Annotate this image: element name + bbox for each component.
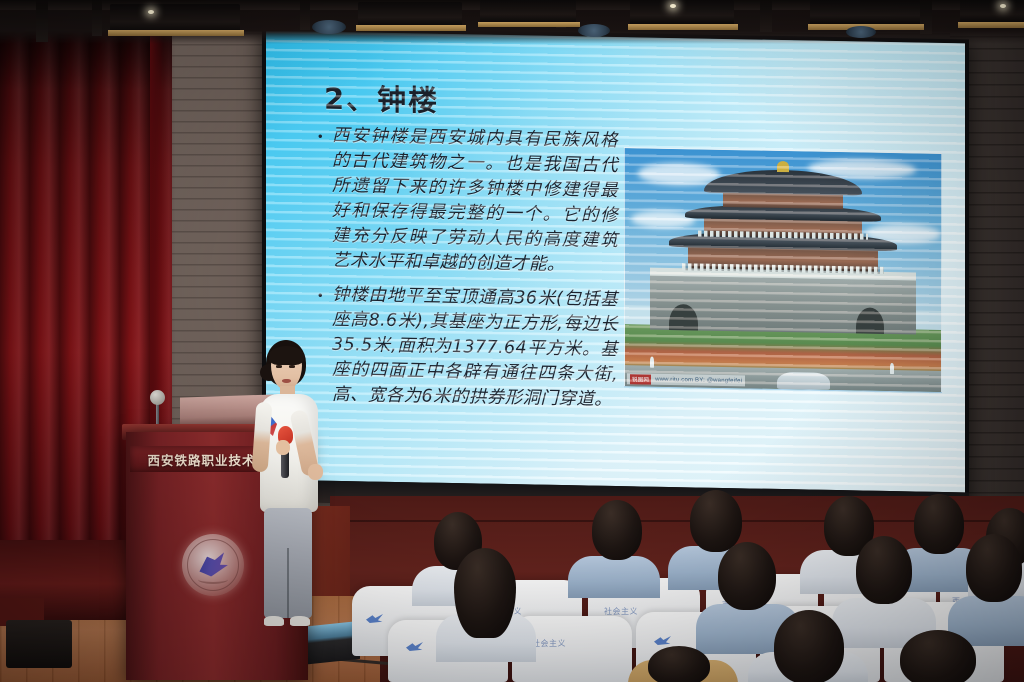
stage-left-equipment-case bbox=[6, 620, 72, 668]
slide-body: • 西安钟楼是西安城内具有民族风格的古代建筑物之一。也是我国古代所遗留下来的许多… bbox=[318, 124, 618, 422]
watermark-badge: 锐图网 bbox=[630, 374, 651, 384]
chair-cover-logo-icon bbox=[654, 636, 671, 645]
lamp-glow-icon bbox=[148, 10, 154, 14]
lecture-hall-scene: 2、钟楼 • 西安钟楼是西安城内具有民族风格的古代建筑物之一。也是我国古代所遗留… bbox=[0, 0, 1024, 682]
presenter-eye bbox=[289, 365, 295, 368]
audience-member-head bbox=[966, 534, 1022, 602]
stage-light-fixture bbox=[960, 0, 1024, 24]
presenter-eye bbox=[276, 365, 282, 368]
audience-member-head bbox=[856, 536, 912, 604]
tower-finial bbox=[777, 160, 790, 172]
truss-dropper bbox=[92, 0, 102, 36]
truss-dropper bbox=[760, 0, 772, 32]
audience-member-head bbox=[900, 630, 976, 682]
chair-cover-logo-icon bbox=[366, 614, 383, 623]
fixture-lip bbox=[478, 22, 580, 27]
gooseneck-microphone-icon bbox=[150, 390, 165, 405]
stage-light-fixture bbox=[810, 0, 920, 26]
college-crest-icon bbox=[182, 534, 244, 596]
presenter-hair-front bbox=[269, 346, 304, 365]
audience-member-head bbox=[774, 610, 844, 682]
photo-car bbox=[777, 372, 831, 390]
audience-member-head bbox=[914, 494, 964, 554]
slide-bullet-text: 西安钟楼是西安城内具有民族风格的古代建筑物之一。也是我国古代所遗留下来的许多钟楼… bbox=[332, 124, 618, 279]
presenter-mouth bbox=[282, 379, 291, 383]
presenter-shoe bbox=[290, 616, 310, 626]
presenter-hand-right bbox=[308, 464, 323, 480]
audience-member-head bbox=[718, 542, 776, 610]
slide-bullet: • 西安钟楼是西安城内具有民族风格的古代建筑物之一。也是我国古代所遗留下来的许多… bbox=[318, 124, 618, 279]
presenter-hand-holding-mic bbox=[276, 440, 290, 455]
audience-member-head bbox=[592, 500, 642, 560]
chair-cover-logo-icon bbox=[406, 642, 423, 651]
chair-cover-text: 社会主义 bbox=[532, 638, 566, 649]
presenter-trouser-seam bbox=[287, 548, 289, 618]
truss-dropper bbox=[36, 0, 48, 42]
lamp-glow-icon bbox=[1000, 4, 1006, 8]
photo-pedestrian bbox=[650, 357, 654, 368]
audience-member-shoulders bbox=[568, 556, 660, 598]
presenter-shoe bbox=[264, 616, 284, 626]
projection-screen-frame: 2、钟楼 • 西安钟楼是西安城内具有民族风格的古代建筑物之一。也是我国古代所遗留… bbox=[262, 27, 969, 515]
ceiling-speaker-icon bbox=[312, 20, 346, 34]
audience-member-head bbox=[648, 646, 710, 682]
audience-member-head bbox=[690, 490, 742, 552]
audience-member-head bbox=[454, 548, 516, 638]
watermark-text: www.ritu.com BY: @wangfeifei bbox=[655, 376, 742, 384]
truss-dropper bbox=[300, 0, 310, 30]
crest-arc bbox=[198, 575, 228, 584]
photo-pedestrian bbox=[890, 363, 894, 374]
slide-bullet-text: 钟楼由地平至宝顶通高36米(包括基座高8.6米),其基座为正方形,每边长35.5… bbox=[332, 283, 618, 413]
stage-light-fixture bbox=[480, 0, 576, 24]
bullet-dot-icon: • bbox=[318, 124, 332, 149]
photo-watermark: 锐图网 www.ritu.com BY: @wangfeifei bbox=[627, 373, 745, 386]
bell-tower-photo: 锐图网 www.ritu.com BY: @wangfeifei bbox=[624, 147, 942, 393]
ceiling-speaker-icon bbox=[578, 24, 610, 37]
slide-bullet: • 钟楼由地平至宝顶通高36米(包括基座高8.6米),其基座为正方形,每边长35… bbox=[318, 283, 618, 413]
lamp-glow-icon bbox=[670, 4, 676, 8]
stage-light-fixture bbox=[630, 0, 734, 26]
slide-title: 2、钟楼 bbox=[324, 76, 439, 120]
presenter bbox=[240, 338, 340, 668]
fixture-lip bbox=[958, 22, 1024, 28]
projection-screen: 2、钟楼 • 西安钟楼是西安城内具有民族风格的古代建筑物之一。也是我国古代所遗留… bbox=[266, 31, 965, 493]
ceiling-speaker-icon bbox=[846, 26, 876, 38]
fixture-lip bbox=[356, 25, 466, 31]
fixture-lip bbox=[108, 30, 244, 36]
fixture-lip bbox=[628, 24, 738, 30]
bullet-dot-icon: • bbox=[318, 283, 332, 308]
